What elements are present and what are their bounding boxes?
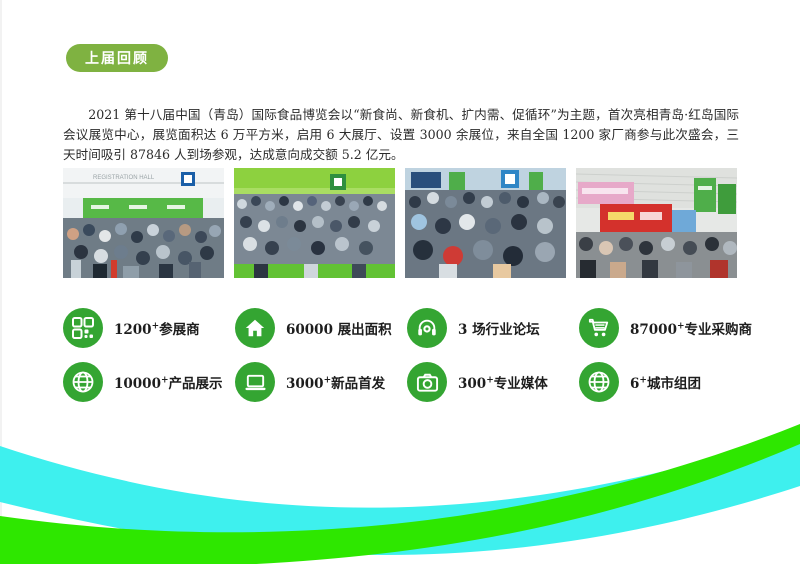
photo-exhibition-booths-hall bbox=[576, 168, 737, 278]
stat-label-forums: 3 场行业论坛 bbox=[458, 318, 540, 338]
stat-item-buyers: 87000+专业采购商 bbox=[579, 308, 751, 348]
stat-label-media: 300+专业媒体 bbox=[458, 372, 548, 392]
stats-row-1: 1200+参展商 60000 展出面积 bbox=[63, 308, 753, 348]
svg-text:REGISTRATION HALL: REGISTRATION HALL bbox=[93, 175, 155, 181]
photo-aisle-crowd-closeup bbox=[405, 168, 566, 278]
stat-item-city-groups: 6+城市组团 bbox=[579, 362, 751, 402]
page-canvas: 上届回顾 2021 第十八届中国（青岛）国际食品博览会以“新食尚、新食机、扩内需… bbox=[0, 0, 800, 564]
stat-item-forums: 3 场行业论坛 bbox=[407, 308, 579, 348]
headset-icon bbox=[407, 308, 447, 348]
photo-entrance-queue-crowd bbox=[234, 168, 395, 278]
stat-label-city-groups: 6+城市组团 bbox=[630, 372, 701, 392]
stat-label-exhibitors: 1200+参展商 bbox=[114, 318, 200, 338]
photo-strip: REGISTRATION HALL bbox=[63, 168, 737, 278]
stats-row-2: 10000+产品展示 3000+新品首发 bbox=[63, 362, 753, 402]
section-badge: 上届回顾 bbox=[66, 44, 168, 72]
photo-registration-hall-crowd: REGISTRATION HALL bbox=[63, 168, 224, 278]
stat-item-new-products: 3000+新品首发 bbox=[235, 362, 407, 402]
footer-swoosh-decoration bbox=[0, 424, 800, 564]
stat-label-buyers: 87000+专业采购商 bbox=[630, 318, 752, 338]
stat-item-exhibitors: 1200+参展商 bbox=[63, 308, 235, 348]
stat-item-exhibition-area: 60000 展出面积 bbox=[235, 308, 407, 348]
qr-grid-icon bbox=[63, 308, 103, 348]
stat-item-products: 10000+产品展示 bbox=[63, 362, 235, 402]
camera-icon bbox=[407, 362, 447, 402]
laptop-icon bbox=[235, 362, 275, 402]
stat-item-media: 300+专业媒体 bbox=[407, 362, 579, 402]
cart-icon bbox=[579, 308, 619, 348]
intro-paragraph: 2021 第十八届中国（青岛）国际食品博览会以“新食尚、新食机、扩内需、促循环”… bbox=[63, 105, 739, 165]
stat-label-products: 10000+产品展示 bbox=[114, 372, 223, 392]
globe-icon bbox=[63, 362, 103, 402]
stat-label-new-products: 3000+新品首发 bbox=[286, 372, 385, 392]
section-badge-label: 上届回顾 bbox=[85, 48, 149, 68]
home-icon bbox=[235, 308, 275, 348]
globe-icon bbox=[579, 362, 619, 402]
stat-label-exhibition-area: 60000 展出面积 bbox=[286, 318, 392, 338]
stats-grid: 1200+参展商 60000 展出面积 bbox=[63, 308, 753, 416]
